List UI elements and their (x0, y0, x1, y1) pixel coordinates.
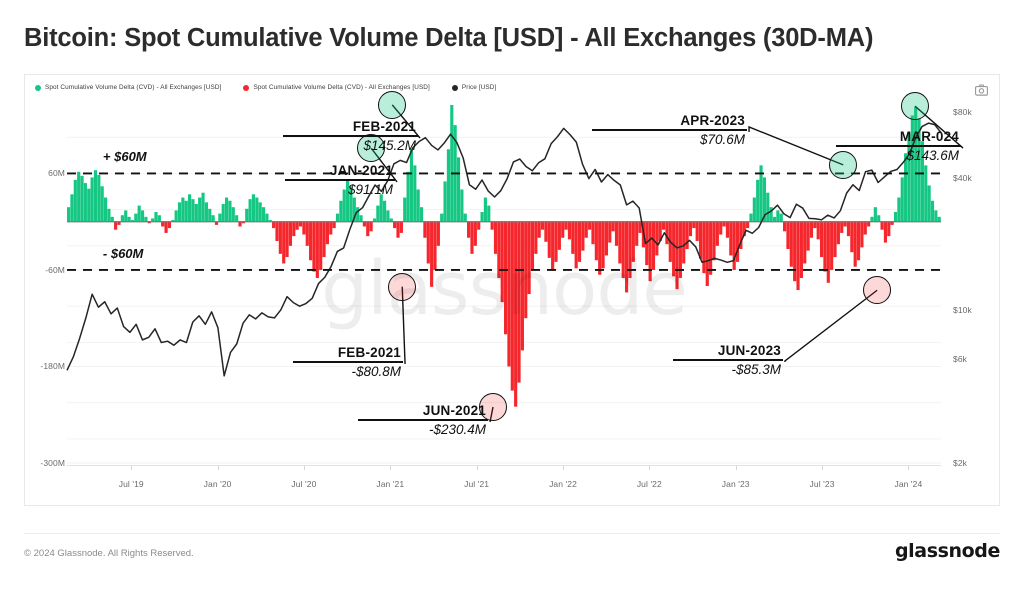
y-axis-right-tick: $6k (953, 354, 967, 364)
y-axis-left-tick: 60M (48, 168, 65, 178)
annotation-marker-jun-2023-low[interactable] (863, 276, 891, 304)
annotation-feb-2021-low: FEB-2021-$80.8M (293, 345, 403, 379)
x-axis-tick: Jan '23 (722, 479, 750, 489)
x-axis-tick: Jul '23 (810, 479, 835, 489)
annotation-value: $70.6M (592, 131, 747, 147)
x-axis-tick: Jan '21 (376, 479, 404, 489)
legend-item-cvd-negative[interactable]: Spot Cumulative Volume Delta (CVD) - All… (243, 84, 429, 91)
annotation-title: JUN-2023 (673, 343, 783, 359)
x-axis-tick: Jan '22 (549, 479, 577, 489)
annotation-title: JAN-2021 (285, 163, 395, 179)
annotation-jun-2021-low: JUN-2021-$230.4M (358, 403, 488, 437)
annotation-jan-2021-high: JAN-2021$91.1M (285, 163, 395, 197)
annotation-title: FEB-2021 (293, 345, 403, 361)
annotation-apr-2023-high: APR-2023$70.6M (592, 113, 747, 147)
threshold-label-negative: - $60M (103, 246, 143, 261)
y-axis-left: 60M-60M-180M-300M (25, 75, 65, 505)
copyright-text: © 2024 Glassnode. All Rights Reserved. (24, 548, 194, 559)
y-axis-left-tick: -60M (45, 265, 65, 275)
y-axis-right-tick: $40k (953, 173, 972, 183)
x-axis-tick: Jul '20 (291, 479, 316, 489)
x-axis: Jul '19Jan '20Jul '20Jan '21Jul '21Jan '… (25, 465, 999, 505)
y-axis-right-tick: $80k (953, 107, 972, 117)
x-axis-tick: Jan '24 (894, 479, 922, 489)
annotation-value: -$230.4M (358, 421, 488, 437)
annotation-marker-feb-2021-high[interactable] (378, 91, 406, 119)
annotation-feb-2021-high: FEB-2021$145.2M (283, 119, 418, 153)
annotation-marker-feb-2021-low[interactable] (388, 273, 416, 301)
footer-divider (24, 533, 1000, 534)
x-axis-tick: Jul '19 (119, 479, 144, 489)
y-axis-left-tick: -180M (40, 361, 65, 371)
black-dot-icon (452, 85, 458, 91)
annotation-title: MAR-024 (836, 129, 961, 145)
annotation-title: APR-2023 (592, 113, 747, 129)
annotation-value: $91.1M (285, 181, 395, 197)
annotation-jun-2023-low: JUN-2023-$85.3M (673, 343, 783, 377)
page-title: Bitcoin: Spot Cumulative Volume Delta [U… (24, 24, 873, 53)
x-axis-tick: Jan '20 (204, 479, 232, 489)
chart-legend: Spot Cumulative Volume Delta (CVD) - All… (35, 84, 496, 91)
annotation-value: -$85.3M (673, 361, 783, 377)
brand-logo: glassnode (895, 540, 1000, 562)
y-axis-right-tick: $10k (953, 305, 972, 315)
annotation-value: $143.6M (836, 147, 961, 163)
chart-card: Spot Cumulative Volume Delta (CVD) - All… (24, 74, 1000, 506)
legend-label: Price [USD] (462, 84, 496, 91)
plot-area[interactable]: glassnode (67, 101, 941, 463)
annotation-title: FEB-2021 (283, 119, 418, 135)
x-axis-tick: Jul '21 (464, 479, 489, 489)
annotation-markers (67, 101, 941, 463)
threshold-label-positive: + $60M (103, 149, 147, 164)
legend-item-price[interactable]: Price [USD] (452, 84, 496, 91)
annotation-marker-mar-2024-high[interactable] (901, 92, 929, 120)
legend-label: Spot Cumulative Volume Delta (CVD) - All… (45, 84, 221, 91)
annotation-mar-2024-high: MAR-024$143.6M (836, 129, 961, 163)
annotation-value: $145.2M (283, 137, 418, 153)
annotation-value: -$80.8M (293, 363, 403, 379)
x-axis-tick: Jul '22 (637, 479, 662, 489)
annotation-title: JUN-2021 (358, 403, 488, 419)
legend-label: Spot Cumulative Volume Delta (CVD) - All… (253, 84, 429, 91)
chart-page: Bitcoin: Spot Cumulative Volume Delta [U… (0, 0, 1024, 589)
red-dot-icon (243, 85, 249, 91)
x-axis-line (67, 465, 941, 466)
